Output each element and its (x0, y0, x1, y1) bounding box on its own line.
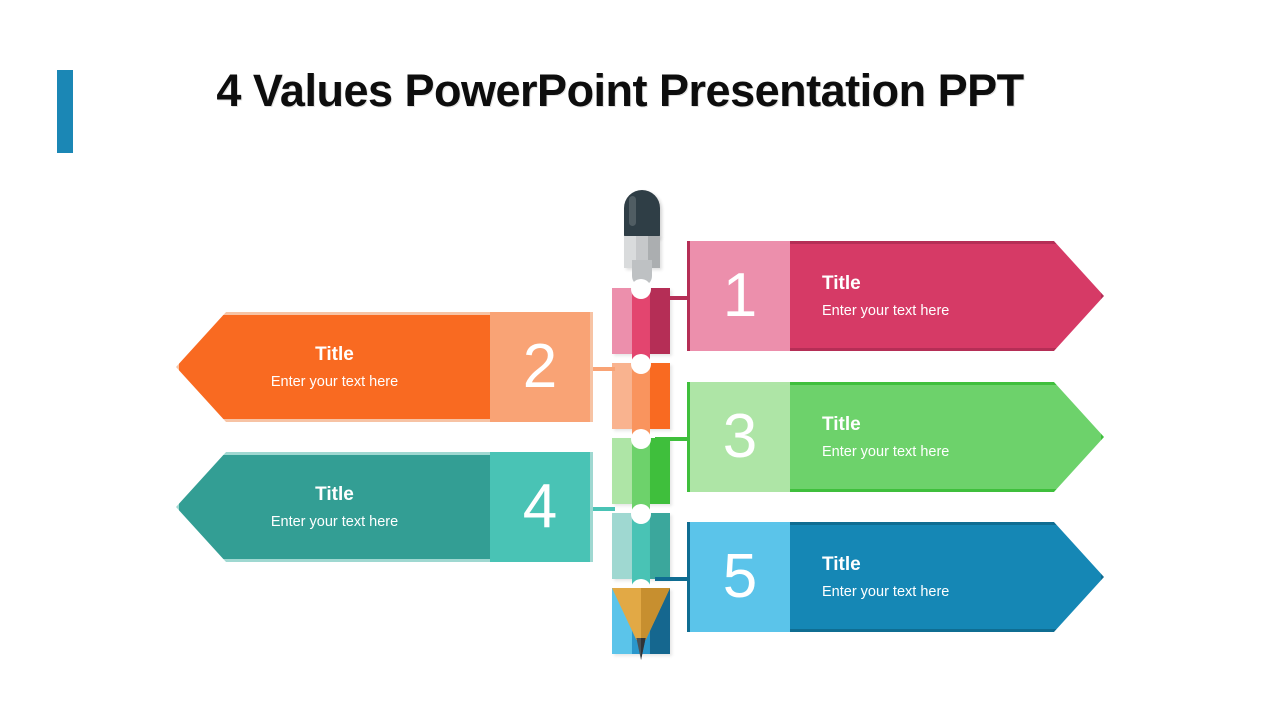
page-title: 4 Values PowerPoint Presentation PPT (175, 55, 1065, 127)
value-text-4: Title Enter your text here (216, 452, 453, 562)
value-banner-4[interactable]: 4 Title Enter your text here (176, 452, 593, 562)
value-banner-5[interactable]: 5 Title Enter your text here (687, 522, 1104, 632)
value-title-3: Title (822, 414, 1074, 436)
value-text-3: Title Enter your text here (822, 382, 1074, 492)
value-number-1: 1 (690, 241, 790, 351)
value-title-4: Title (216, 484, 453, 506)
value-subtitle-4: Enter your text here (216, 514, 453, 530)
value-title-1: Title (822, 273, 1074, 295)
value-banner-1[interactable]: 1 Title Enter your text here (687, 241, 1104, 351)
value-text-2: Title Enter your text here (216, 312, 453, 422)
value-subtitle-5: Enter your text here (822, 584, 1074, 600)
value-number-2: 2 (490, 312, 590, 422)
pencil-segment-4 (612, 513, 670, 587)
value-number-3: 3 (690, 382, 790, 492)
value-subtitle-2: Enter your text here (216, 374, 453, 390)
value-number-4: 4 (490, 452, 590, 562)
value-number-5: 5 (690, 522, 790, 632)
pencil-graphic (612, 190, 670, 660)
pencil-segment-3 (612, 438, 670, 512)
value-banner-3[interactable]: 3 Title Enter your text here (687, 382, 1104, 492)
value-subtitle-1: Enter your text here (822, 303, 1074, 319)
value-text-5: Title Enter your text here (822, 522, 1074, 632)
value-title-5: Title (822, 554, 1074, 576)
pencil-eraser-icon (624, 190, 660, 238)
value-subtitle-3: Enter your text here (822, 444, 1074, 460)
value-text-1: Title Enter your text here (822, 241, 1074, 351)
value-title-2: Title (216, 344, 453, 366)
title-accent-bar (57, 70, 73, 153)
value-banner-2[interactable]: 2 Title Enter your text here (176, 312, 593, 422)
slide-canvas: 4 Values PowerPoint Presentation PPT (0, 0, 1280, 720)
pencil-graphite-tip-icon (612, 638, 670, 660)
pencil-wood-tip-icon (612, 588, 670, 640)
pencil-segment-2 (612, 363, 670, 437)
